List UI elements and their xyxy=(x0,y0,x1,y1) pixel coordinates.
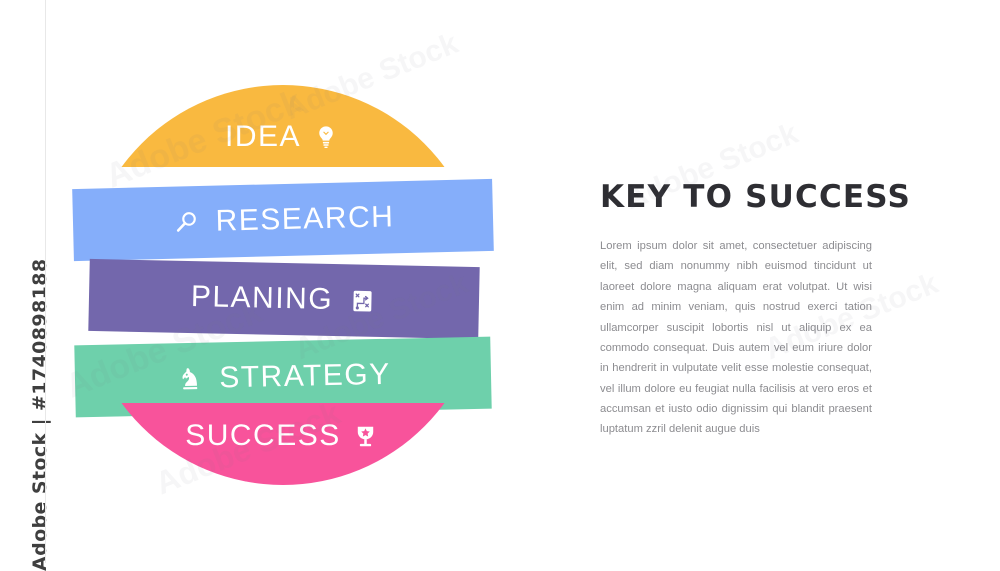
trophy-cup-icon xyxy=(351,421,381,451)
step-content-planing: PLANING xyxy=(88,259,479,339)
step-content-strategy: STRATEGY xyxy=(74,337,491,418)
chess-knight-icon xyxy=(175,364,206,395)
step-label-success: SUCCESS xyxy=(185,421,341,451)
page-title: KEY TO SUCCESS xyxy=(600,180,872,214)
slide-canvas: IDEA RESEARCH P xyxy=(0,0,1000,563)
body-paragraph: Lorem ipsum dolor sit amet, consectetuer… xyxy=(600,236,872,440)
step-label-research: RESEARCH xyxy=(215,202,394,236)
step-label-strategy: STRATEGY xyxy=(219,360,391,394)
magnifier-icon xyxy=(171,207,202,238)
step-content-idea: IDEA xyxy=(83,107,483,167)
step-content-success: SUCCESS xyxy=(83,407,483,465)
text-column: KEY TO SUCCESS Lorem ipsum dolor sit ame… xyxy=(600,180,872,440)
plan-board-icon xyxy=(347,285,378,316)
stock-id-rail: Adobe Stock | #1740898188 xyxy=(0,0,46,563)
step-label-planing: PLANING xyxy=(191,282,334,315)
key-to-success-diagram: IDEA RESEARCH P xyxy=(83,85,483,485)
step-label-idea: IDEA xyxy=(225,122,301,152)
stock-id-label: Adobe Stock | #1740898188 xyxy=(29,51,51,571)
step-content-research: RESEARCH xyxy=(72,179,494,261)
rail-divider xyxy=(45,0,46,563)
lightbulb-icon xyxy=(311,122,341,152)
